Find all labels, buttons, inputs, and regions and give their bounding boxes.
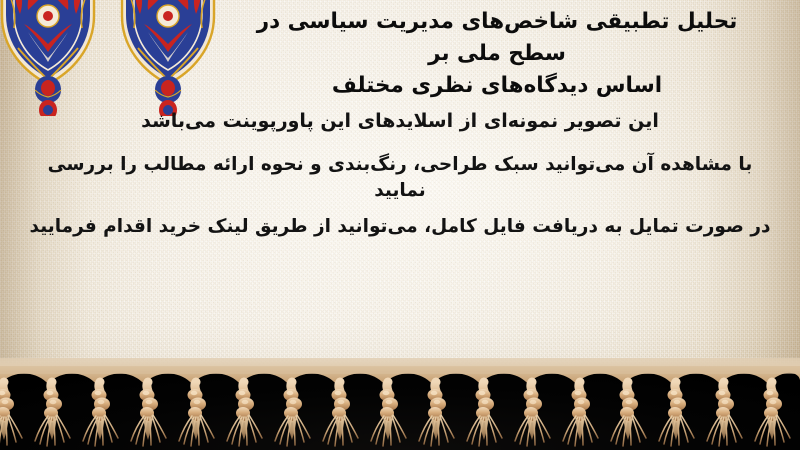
body-line-1: این تصویر نمونه‌ای از اسلایدهای این پاور… — [26, 108, 774, 135]
slide-canvas: تحلیل تطبیقی شاخص‌های مدیریت سیاسی در سط… — [0, 0, 800, 450]
slide-title: تحلیل تطبیقی شاخص‌های مدیریت سیاسی در سط… — [228, 6, 766, 101]
fringe-strand-group — [0, 382, 790, 446]
carpet-fringe-border — [0, 358, 800, 450]
slide-body: این تصویر نمونه‌ای از اسلایدهای این پاور… — [26, 108, 774, 240]
body-line-3: در صورت تمایل به دریافت فایل کامل، می‌تو… — [26, 214, 774, 240]
fringe-tassels-graphic — [0, 358, 800, 450]
persian-illumination-ornament — [0, 0, 220, 116]
body-line-2: با مشاهده آن می‌توانید سبک طراحی، رنگ‌بن… — [26, 152, 774, 205]
